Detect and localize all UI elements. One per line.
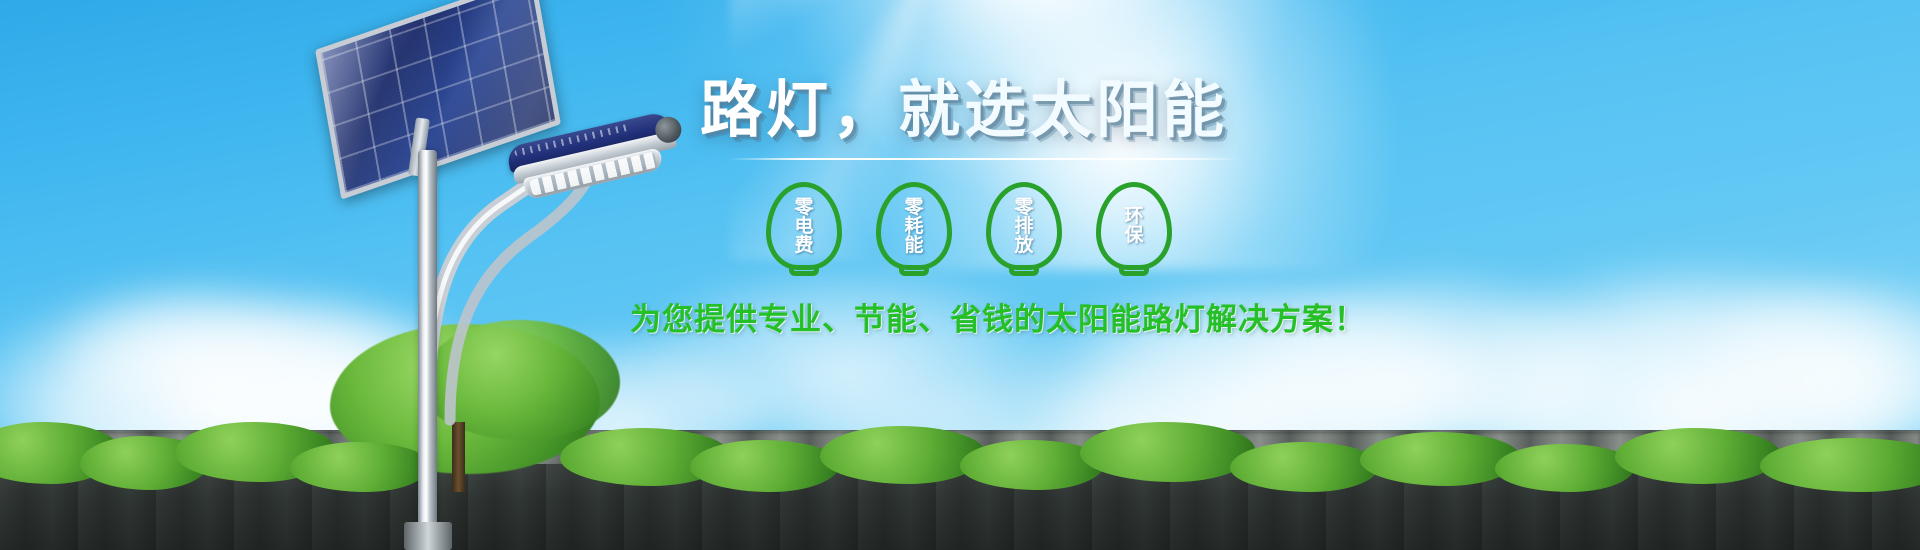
ivy-clump [1230, 442, 1380, 492]
ivy-clump [820, 426, 985, 484]
badge-label: 耗 能 [904, 217, 923, 256]
hero-banner: 路灯，就选太阳能 零 电 费 零 耗 能 零 排 [0, 0, 1920, 550]
solar-street-lamp [300, 0, 720, 550]
badge-zero-label: 零 [794, 198, 813, 217]
badge-huanbao: 环 保 [1096, 182, 1172, 270]
headline-part2: 就选太阳能 [898, 73, 1228, 146]
ivy-clump [1360, 432, 1520, 486]
badge-haoneng: 零 耗 能 [876, 182, 952, 270]
feature-badge-list: 零 电 费 零 耗 能 零 排 放 [766, 182, 1340, 270]
foliage-row [0, 352, 1920, 492]
headline-part1: 路灯， [700, 73, 898, 146]
pole-base [404, 522, 452, 550]
copy-block: 路灯，就选太阳能 零 电 费 零 耗 能 零 排 [700, 78, 1340, 339]
ivy-clump [1080, 422, 1255, 482]
divider-rule [728, 158, 1240, 160]
badge-label-line2: 费 [794, 236, 813, 255]
ivy-clump [1615, 428, 1780, 484]
badge-zero-label: 零 [1014, 198, 1033, 217]
badge-label: 电 费 [794, 217, 813, 256]
subline: 为您提供专业、节能、省钱的太阳能路灯解决方案！ [630, 294, 1340, 339]
ivy-clump [1760, 438, 1920, 492]
badge-label-line2: 能 [904, 236, 923, 255]
headline: 路灯，就选太阳能 [700, 78, 1340, 142]
badge-label: 环 保 [1124, 207, 1143, 246]
badge-label-line2: 放 [1014, 236, 1033, 255]
ivy-clump [1495, 444, 1635, 492]
badge-paifang: 零 排 放 [986, 182, 1062, 270]
badge-dianfei: 零 电 费 [766, 182, 842, 270]
badge-zero-label: 零 [904, 198, 923, 217]
badge-label: 排 放 [1014, 217, 1033, 256]
badge-label-line2: 保 [1124, 226, 1143, 245]
lamp-pole [418, 150, 437, 550]
